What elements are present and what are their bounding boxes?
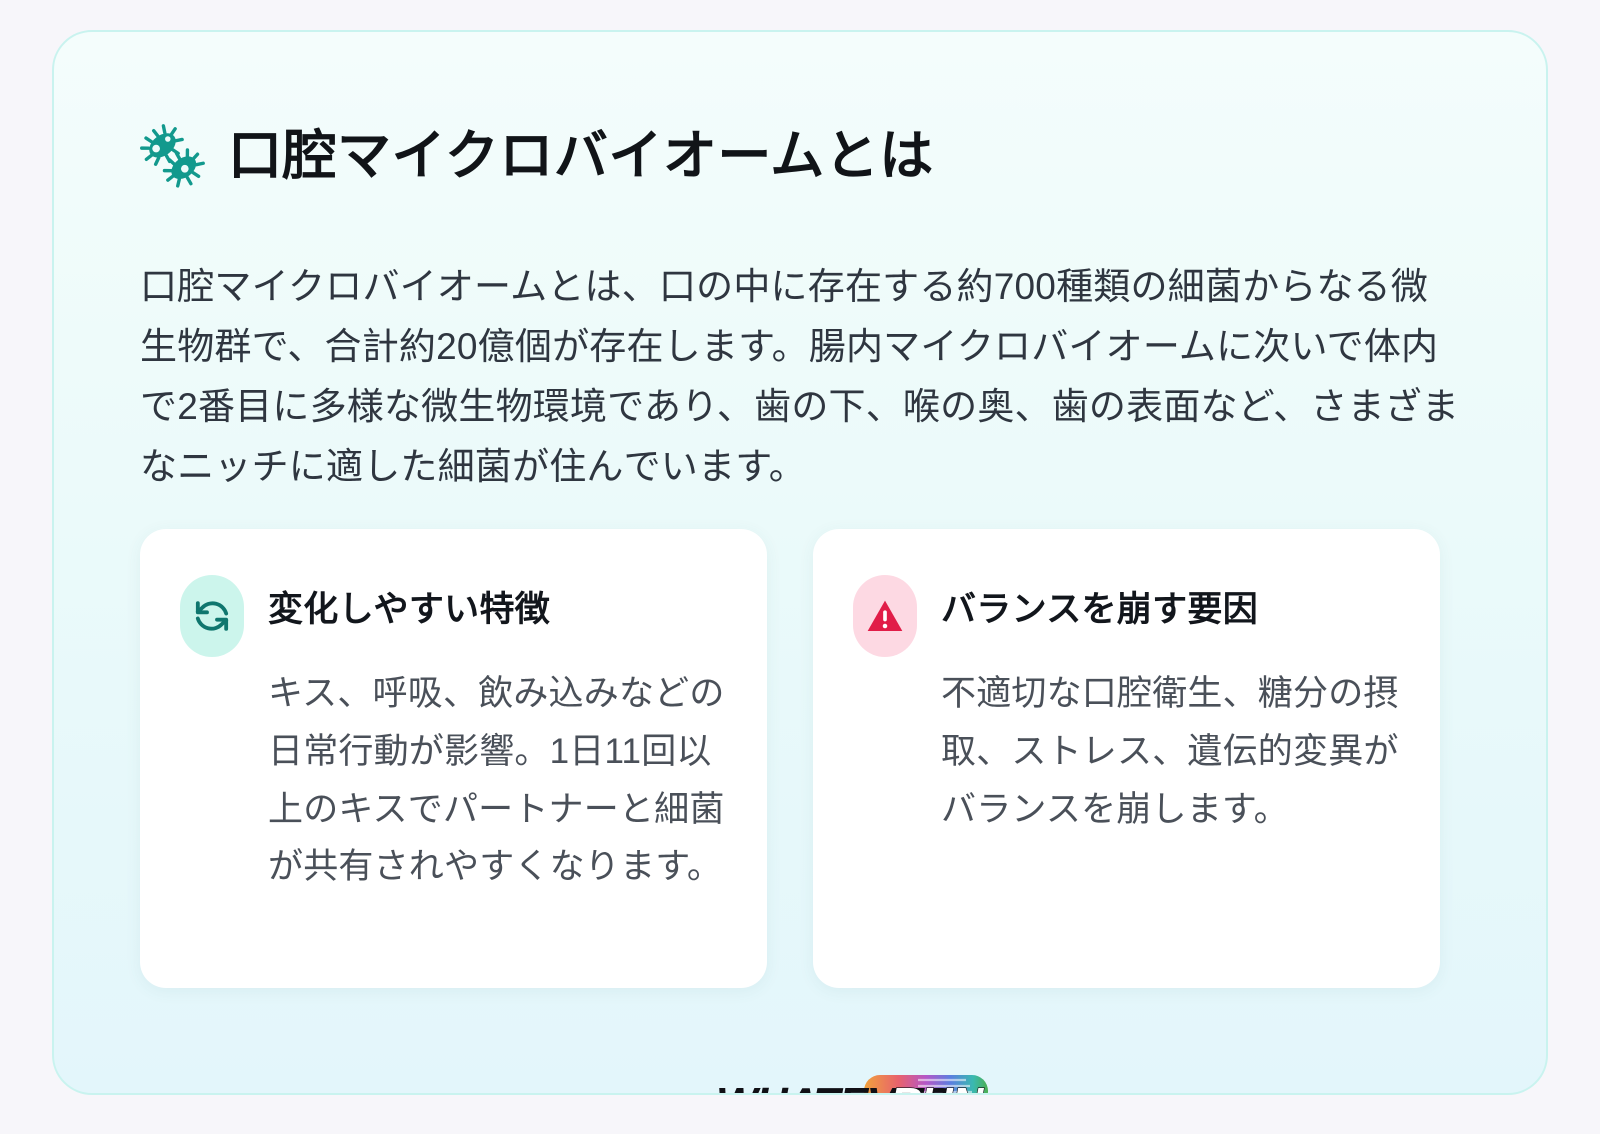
site-logo: WHATEVER RUN .COM bbox=[54, 1060, 1548, 1095]
info-card-changeable-traits: 変化しやすい特徴 キス、呼吸、飲み込みなどの日常行動が影響。1日11回以上のキス… bbox=[140, 529, 767, 988]
icon-badge-mint bbox=[180, 575, 244, 657]
intro-paragraph: 口腔マイクロバイオームとは、口の中に存在する約700種類の細菌からなる微生物群で… bbox=[140, 257, 1460, 497]
card-title: バランスを崩す要因 bbox=[941, 575, 1258, 631]
page-header: 口腔マイクロバイオームとは bbox=[136, 122, 934, 190]
logo-highlight-text: RUN bbox=[890, 1079, 985, 1095]
microbe-icon bbox=[136, 122, 206, 190]
info-card-row: 変化しやすい特徴 キス、呼吸、飲み込みなどの日常行動が影響。1日11回以上のキス… bbox=[140, 529, 1464, 988]
card-title: 変化しやすい特徴 bbox=[268, 575, 550, 631]
info-card-balance-disruptors: バランスを崩す要因 不適切な口腔衛生、糖分の摂取、ストレス、遺伝的変異がバランス… bbox=[813, 529, 1440, 988]
warning-triangle-icon bbox=[865, 596, 905, 636]
icon-badge-pink bbox=[853, 575, 917, 657]
card-body-text: 不適切な口腔衛生、糖分の摂取、ストレス、遺伝的変異がバランスを崩します。 bbox=[941, 665, 1400, 838]
page-title: 口腔マイクロバイオームとは bbox=[228, 129, 934, 183]
card-body-text: キス、呼吸、飲み込みなどの日常行動が影響。1日11回以上のキスでパートナーと細菌… bbox=[268, 665, 727, 896]
card-header: バランスを崩す要因 bbox=[853, 575, 1400, 657]
card-header: 変化しやすい特徴 bbox=[180, 575, 727, 657]
content-panel: 口腔マイクロバイオームとは 口腔マイクロバイオームとは、口の中に存在する約700… bbox=[52, 30, 1548, 1095]
refresh-cycle-icon bbox=[192, 596, 232, 636]
